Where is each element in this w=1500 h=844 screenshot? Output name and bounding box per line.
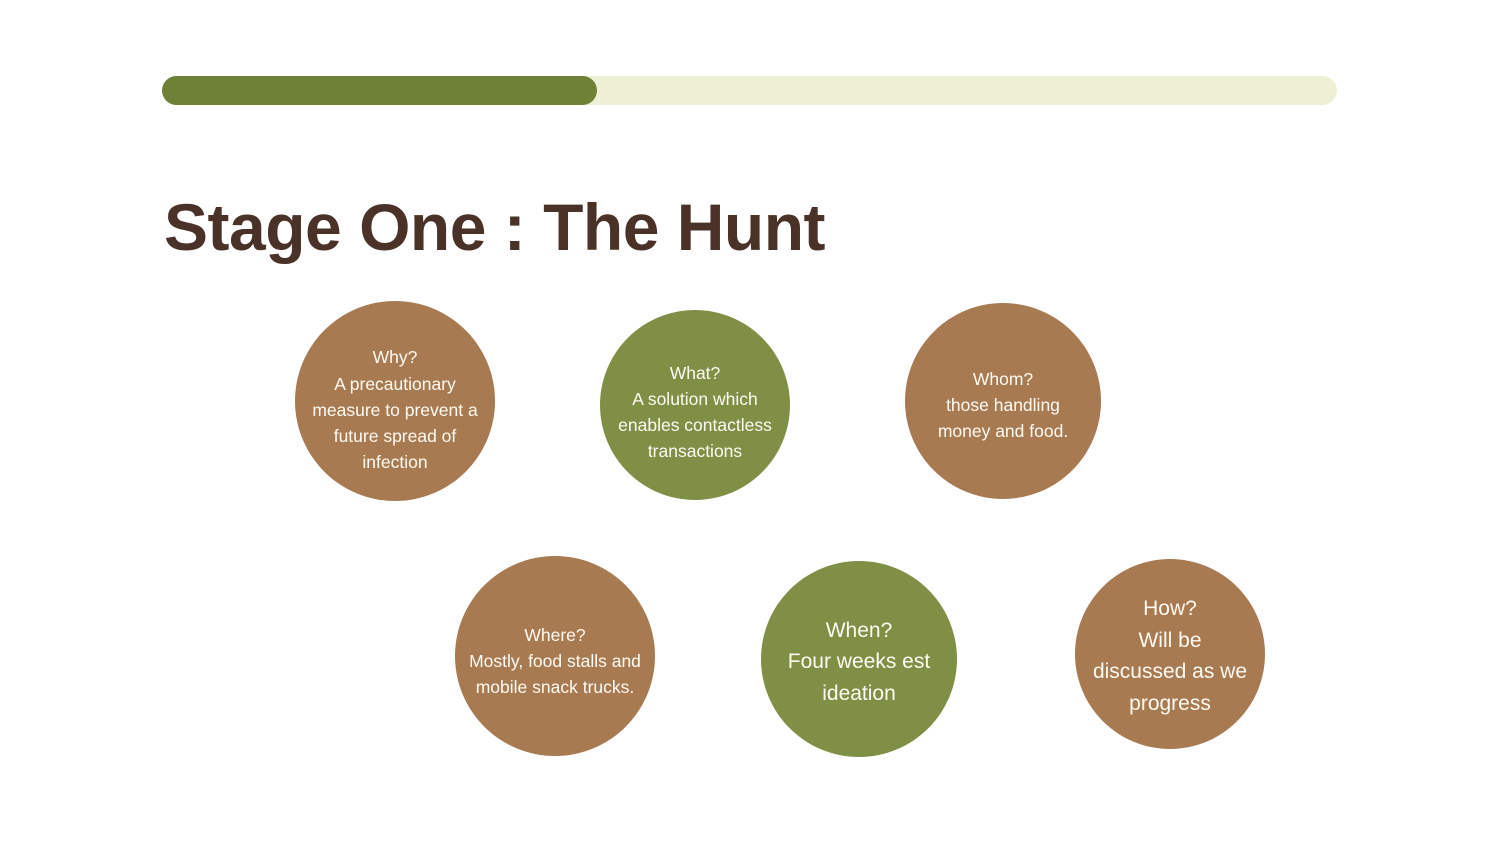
bubble-when[interactable]: When? Four weeks est ideation <box>761 561 957 757</box>
bubble-what-text: What? A solution which enables contactle… <box>600 360 790 465</box>
bubble-why-text: Why? A precautionary measure to prevent … <box>295 344 495 475</box>
bubble-where[interactable]: Where? Mostly, food stalls and mobile sn… <box>455 556 655 756</box>
progress-bar-track[interactable] <box>162 76 1337 105</box>
bubble-how[interactable]: How? Will be discussed as we progress <box>1075 559 1265 749</box>
progress-bar-fill <box>162 76 597 105</box>
bubble-whom[interactable]: Whom? those handling money and food. <box>905 303 1101 499</box>
bubble-where-text: Where? Mostly, food stalls and mobile sn… <box>455 622 655 701</box>
bubble-what[interactable]: What? A solution which enables contactle… <box>600 310 790 500</box>
slide-canvas: Stage One : The Hunt Why? A precautionar… <box>0 0 1500 844</box>
bubble-why[interactable]: Why? A precautionary measure to prevent … <box>295 301 495 501</box>
bubble-whom-text: Whom? those handling money and food. <box>905 366 1101 445</box>
bubble-how-text: How? Will be discussed as we progress <box>1075 593 1265 719</box>
bubble-when-text: When? Four weeks est ideation <box>761 615 957 710</box>
page-title: Stage One : The Hunt <box>164 193 825 262</box>
